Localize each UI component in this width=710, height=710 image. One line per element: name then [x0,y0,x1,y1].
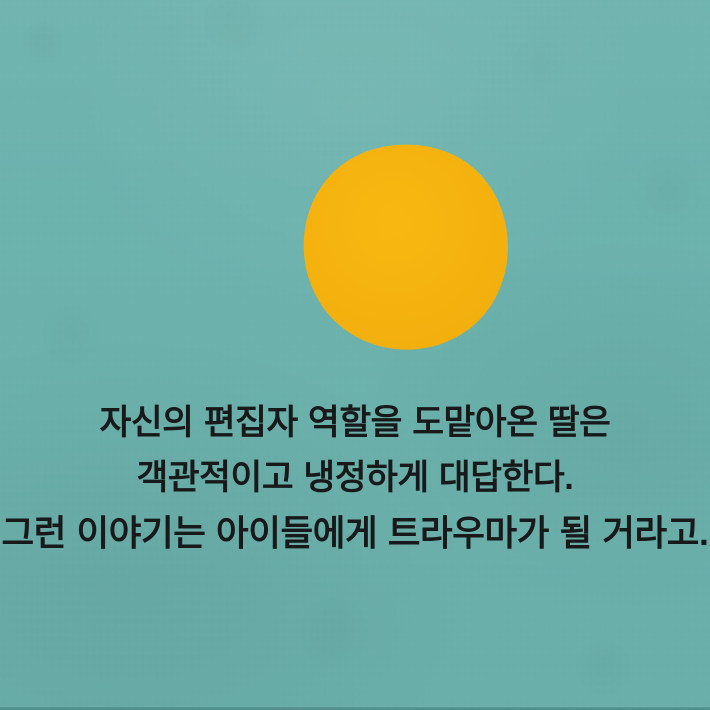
quote-card: 자신의 편집자 역할을 도맡아온 딸은 객관적이고 냉정하게 대답한다. 그런 … [0,0,710,710]
sun-circle-graphic [301,144,511,353]
quote-line-3: 그런 이야기는 아이들에게 트라우마가 될 거라고. [0,506,710,561]
sun-circle-path [304,145,508,350]
card-background [0,0,710,710]
quote-line-1: 자신의 편집자 역할을 도맡아온 딸은 [0,396,710,451]
quote-text-block: 자신의 편집자 역할을 도맡아온 딸은 객관적이고 냉정하게 대답한다. 그런 … [0,396,710,561]
quote-line-2: 객관적이고 냉정하게 대답한다. [0,451,710,506]
